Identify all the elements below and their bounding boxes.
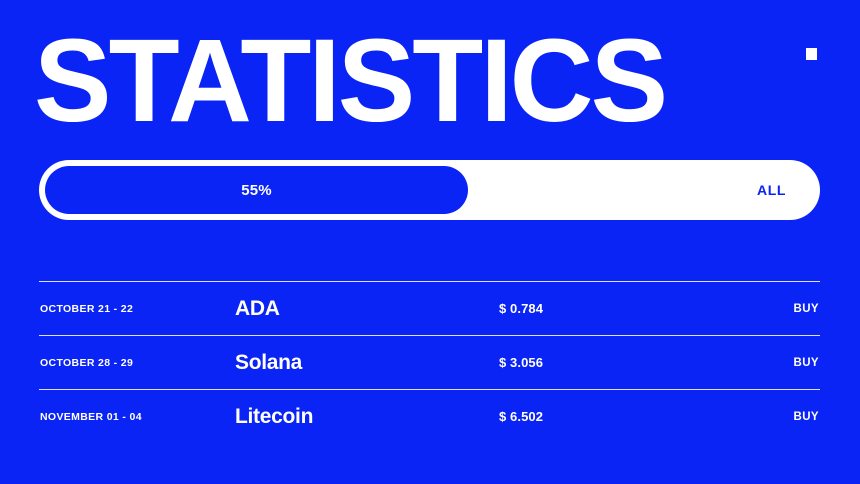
table-row[interactable]: OCTOBER 28 - 29 Solana $ 3.056 BUY	[39, 335, 820, 389]
row-coin: ADA	[235, 297, 280, 321]
progress-all-button[interactable]: ALL	[757, 160, 786, 220]
square-marker-icon	[806, 48, 817, 60]
row-price: $ 3.056	[499, 355, 543, 370]
progress-bar-track[interactable]: 55% ALL	[39, 160, 820, 220]
row-buy-button[interactable]: BUY	[794, 357, 819, 369]
row-date: OCTOBER 21 - 22	[40, 303, 133, 315]
statistics-list: OCTOBER 21 - 22 ADA $ 0.784 BUY OCTOBER …	[39, 281, 820, 443]
row-date: NOVEMBER 01 - 04	[40, 411, 142, 423]
page-title: STATISTICS	[34, 22, 665, 140]
row-date: OCTOBER 28 - 29	[40, 357, 133, 369]
row-coin: Solana	[235, 351, 302, 375]
table-row[interactable]: NOVEMBER 01 - 04 Litecoin $ 6.502 BUY	[39, 389, 820, 443]
progress-value-label: 55%	[241, 182, 272, 199]
row-coin: Litecoin	[235, 405, 313, 429]
row-price: $ 6.502	[499, 409, 543, 424]
row-buy-button[interactable]: BUY	[794, 411, 819, 423]
table-row[interactable]: OCTOBER 21 - 22 ADA $ 0.784 BUY	[39, 281, 820, 335]
row-buy-button[interactable]: BUY	[794, 303, 819, 315]
progress-bar-fill[interactable]: 55%	[45, 166, 468, 214]
row-price: $ 0.784	[499, 301, 543, 316]
